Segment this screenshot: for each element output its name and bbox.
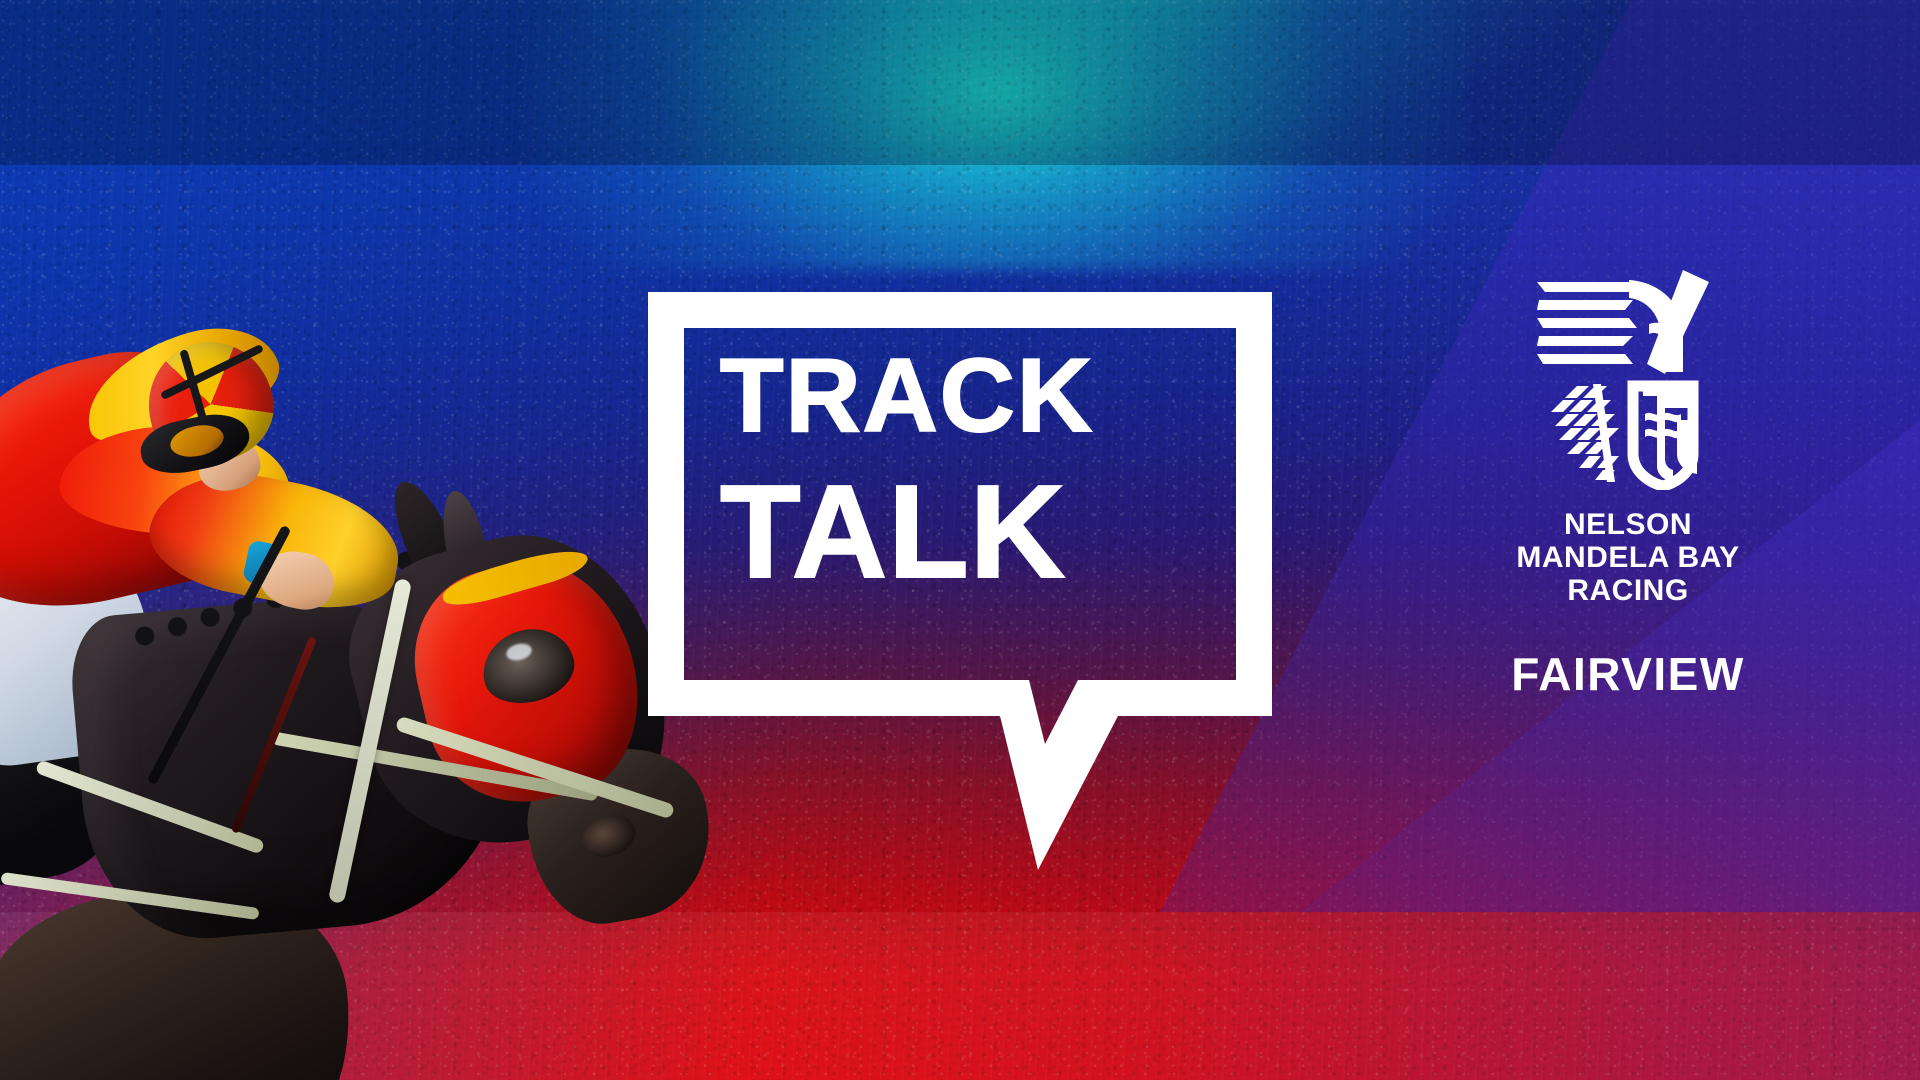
brand-lockup: NELSON MANDELA BAY RACING FAIRVIEW [1478, 268, 1778, 701]
top-tone-band [0, 0, 1920, 165]
brand-name-line-3: RACING [1478, 574, 1778, 607]
banner-stage: TRACK TALK [0, 0, 1920, 1080]
logo-line-track: TRACK [720, 344, 1094, 448]
brand-name-line-2: MANDELA BAY [1478, 541, 1778, 574]
track-talk-logo: TRACK TALK [648, 292, 1272, 872]
logo-line-talk: TALK [720, 466, 1066, 598]
venue-name: FAIRVIEW [1478, 647, 1778, 701]
brand-name-block: NELSON MANDELA BAY RACING [1478, 508, 1778, 607]
brand-name-line-1: NELSON [1478, 508, 1778, 541]
jockey-on-racehorse-photo [0, 330, 670, 1080]
horse-head-shield-crest-icon [1533, 268, 1723, 490]
